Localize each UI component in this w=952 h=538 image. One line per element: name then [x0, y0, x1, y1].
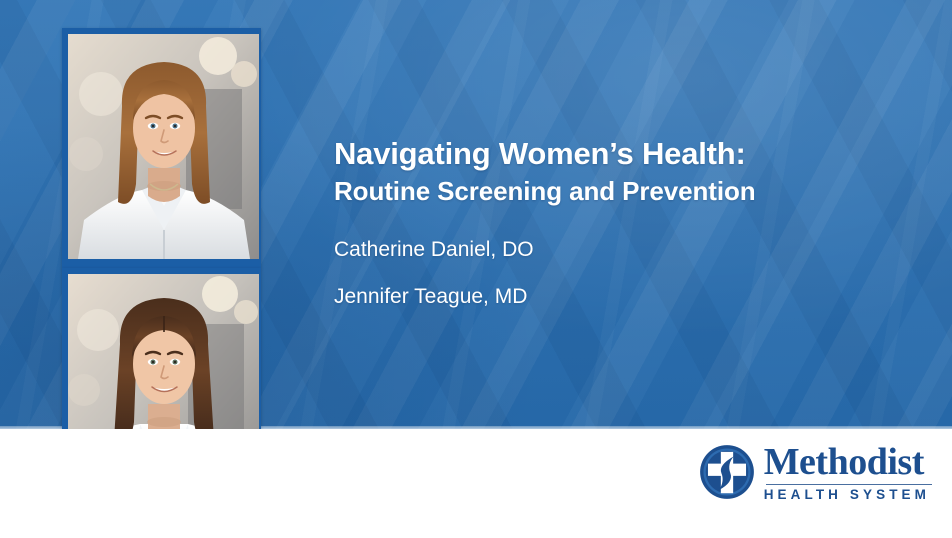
title-block: Navigating Women’s Health: Routine Scree… [334, 136, 934, 310]
presenter-photo-card-1 [62, 28, 261, 268]
presenter-name-2: Jennifer Teague, MD [334, 284, 934, 309]
slide-title-line1: Navigating Women’s Health: [334, 136, 934, 173]
methodist-health-system-logo: Methodist HEALTH SYSTEM [699, 443, 930, 502]
logo-wordmark-block: Methodist HEALTH SYSTEM [764, 443, 930, 502]
logo-divider-rule [766, 484, 932, 485]
methodist-cross-emblem-icon [699, 444, 755, 500]
logo-tagline: HEALTH SYSTEM [764, 488, 930, 502]
presenter-photo-1 [68, 34, 259, 259]
logo-wordmark: Methodist [764, 443, 930, 481]
headshot-illustration-1 [68, 34, 259, 259]
slide-title-line2: Routine Screening and Prevention [334, 176, 934, 208]
presentation-slide: Navigating Women’s Health: Routine Scree… [0, 0, 952, 538]
slide-footer: Methodist HEALTH SYSTEM [0, 429, 952, 538]
presenter-name-1: Catherine Daniel, DO [334, 237, 934, 262]
